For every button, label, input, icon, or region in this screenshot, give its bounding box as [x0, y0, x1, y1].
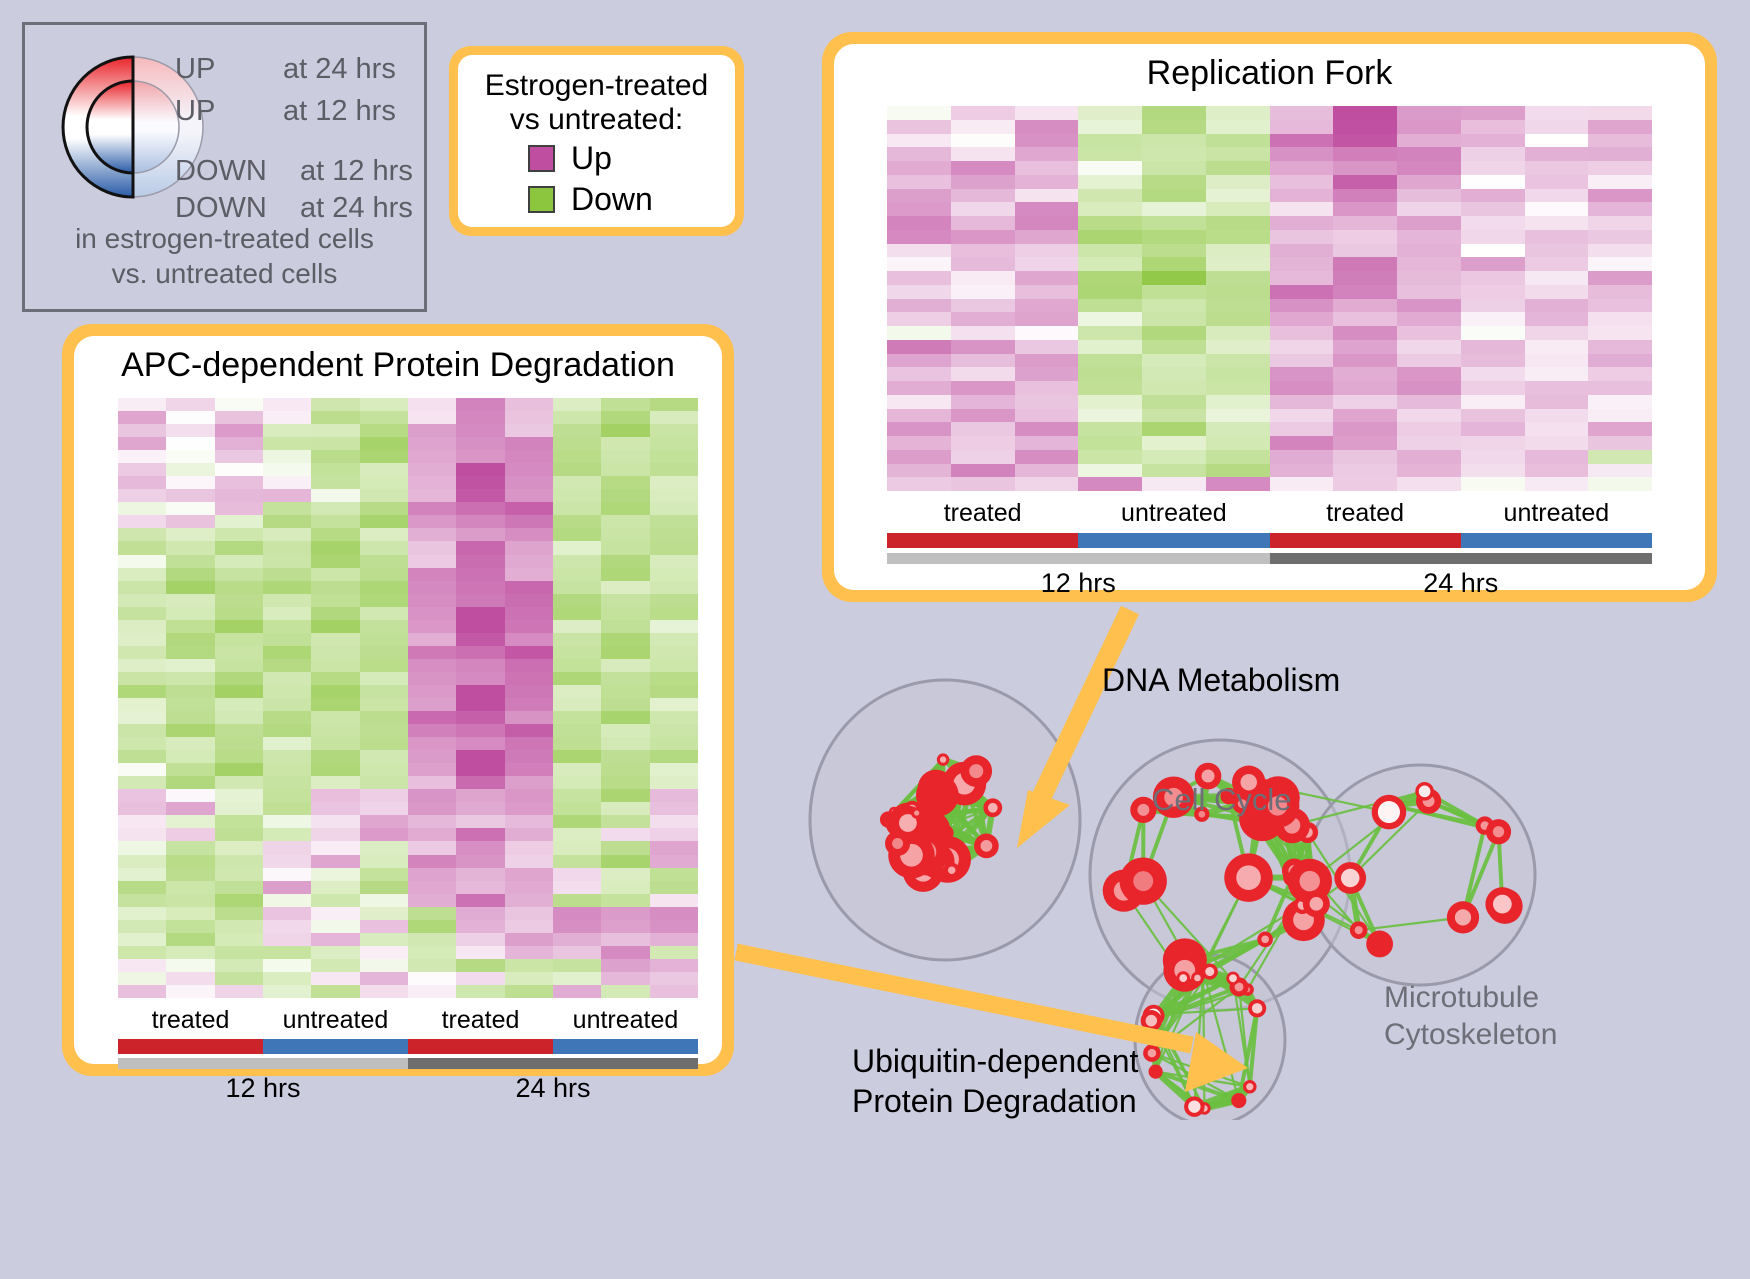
up-label: Up	[571, 140, 612, 177]
heatmap-cell	[553, 881, 601, 894]
heatmap-cell	[456, 411, 504, 424]
heatmap-cell	[118, 555, 166, 568]
heatmap-cell	[360, 933, 408, 946]
heatmap-cell	[1015, 312, 1079, 326]
heatmap-cell	[311, 646, 359, 659]
heatmap-cell	[456, 907, 504, 920]
network-node[interactable]	[1257, 932, 1273, 948]
heatmap-cell	[166, 528, 214, 541]
heatmap-cell	[1015, 175, 1079, 189]
heatmap-cell	[215, 437, 263, 450]
heatmap-cell	[215, 946, 263, 959]
heatmap-cell	[360, 568, 408, 581]
down-swatch-icon	[528, 186, 555, 213]
heatmap-cell	[1461, 477, 1525, 491]
condition-label: untreated	[263, 1006, 408, 1035]
heatmap-cell	[215, 398, 263, 411]
network-node[interactable]	[960, 755, 992, 787]
heatmap-cell	[408, 541, 456, 554]
heatmap-cell	[650, 828, 698, 841]
heatmap-cell	[215, 815, 263, 828]
heatmap-cell	[1461, 409, 1525, 423]
heatmap-cell	[1206, 244, 1270, 258]
heatmap-cell	[650, 607, 698, 620]
heatmap-cell	[650, 946, 698, 959]
heatmap-cell	[311, 450, 359, 463]
condition-labels-apc: treated untreated treated untreated	[118, 1006, 698, 1035]
heatmap-cell	[1397, 216, 1461, 230]
heatmap-cell	[456, 959, 504, 972]
heatmap-cell	[263, 568, 311, 581]
heatmap-cell	[215, 894, 263, 907]
heatmap-cell	[951, 230, 1015, 244]
heatmap-cell	[215, 633, 263, 646]
heatmap-cell	[215, 581, 263, 594]
heatmap-cell	[553, 737, 601, 750]
heatmap-cell	[1142, 395, 1206, 409]
heatmap-cell	[1525, 340, 1589, 354]
network-node[interactable]	[1231, 1093, 1246, 1108]
heatmap-cell	[1588, 161, 1652, 175]
heatmap-cell	[166, 424, 214, 437]
panel-apc-inner: APC-dependent Protein Degradation treate…	[74, 336, 722, 1064]
heatmap-cell	[1461, 367, 1525, 381]
heatmap-cell	[1015, 422, 1079, 436]
heatmap-cell	[456, 815, 504, 828]
heatmap-cell	[505, 894, 553, 907]
heatmap-cell	[1270, 257, 1334, 271]
heatmap-cell	[505, 907, 553, 920]
heatmap-cell	[408, 946, 456, 959]
heatmap-cell	[1142, 477, 1206, 491]
heatmap-cell	[263, 633, 311, 646]
heatmap-cell	[1015, 367, 1079, 381]
heatmap-cell	[166, 411, 214, 424]
heatmap-cell	[1142, 326, 1206, 340]
heatmap-cell	[951, 175, 1015, 189]
heatmap-cell	[553, 776, 601, 789]
heatmap-cell	[887, 202, 951, 216]
condition-labels-replication-fork: treated untreated treated untreated	[887, 499, 1652, 528]
heatmap-cell	[601, 685, 649, 698]
heatmap-cell	[215, 489, 263, 502]
heatmap-cell	[215, 841, 263, 854]
heatmap-cell	[118, 763, 166, 776]
heatmap-cell	[951, 106, 1015, 120]
network-node[interactable]	[1184, 1096, 1205, 1117]
heatmap-cell	[601, 750, 649, 763]
heatmap-cell	[1525, 271, 1589, 285]
heatmap-cell	[1142, 147, 1206, 161]
heatmap-cell	[1397, 312, 1461, 326]
heatmap-cell	[1206, 257, 1270, 271]
heatmap-cell	[311, 841, 359, 854]
heatmap-cell	[601, 515, 649, 528]
heatmap-cell	[1588, 367, 1652, 381]
heatmap-cell	[118, 502, 166, 515]
heatmap-cell	[311, 424, 359, 437]
heatmap-cell	[1461, 340, 1525, 354]
heatmap-cell	[505, 528, 553, 541]
heatmap-cell	[1397, 422, 1461, 436]
heatmap-cell	[456, 894, 504, 907]
heatmap-cell	[360, 815, 408, 828]
heatmap-cell	[311, 437, 359, 450]
heatmap-cell	[1588, 409, 1652, 423]
condition-label: untreated	[1461, 499, 1652, 528]
heatmap-cell	[1015, 244, 1079, 258]
cluster-label-microtubule-cytoskeleton: Microtubule Cytoskeleton	[1384, 980, 1557, 1053]
heatmap-cell	[311, 607, 359, 620]
heatmap-cell	[1333, 230, 1397, 244]
heatmap-cell	[1015, 202, 1079, 216]
heatmap-cell	[1270, 422, 1334, 436]
heatmap-cell	[1078, 450, 1142, 464]
heatmap-cell	[118, 972, 166, 985]
heatmap-cell	[360, 894, 408, 907]
heatmap-cell	[118, 724, 166, 737]
heatmap-cell	[408, 437, 456, 450]
network-node[interactable]	[1176, 971, 1190, 985]
heatmap-cell	[1461, 134, 1525, 148]
heatmap-cell	[311, 489, 359, 502]
heatmap-cell	[1078, 271, 1142, 285]
heatmap-cell	[1397, 381, 1461, 395]
heatmap-cell	[1015, 147, 1079, 161]
heatmap-cell	[360, 972, 408, 985]
heatmap-cell	[1333, 147, 1397, 161]
heatmap-cell	[1461, 244, 1525, 258]
heatmap-cell	[263, 685, 311, 698]
heatmap-cell	[650, 672, 698, 685]
heatmap-cell	[1206, 120, 1270, 134]
heatmap-cell	[1525, 450, 1589, 464]
heatmap-cell	[1078, 230, 1142, 244]
heatmap-cell	[1588, 189, 1652, 203]
heatmap-cell	[1142, 189, 1206, 203]
heatmap-cell	[1461, 161, 1525, 175]
heatmap-cell	[553, 398, 601, 411]
heatmap-cell	[1270, 436, 1334, 450]
heatmap-cell	[360, 789, 408, 802]
heatmap-cell	[887, 354, 951, 368]
heatmap-cell	[1333, 477, 1397, 491]
heatmap-cell	[1270, 106, 1334, 120]
heatmap-cell	[360, 476, 408, 489]
heatmap-cell	[215, 959, 263, 972]
heatmap-cell	[360, 633, 408, 646]
network-node[interactable]	[974, 834, 999, 859]
network-node[interactable]	[1372, 795, 1407, 830]
heatmap-cell	[215, 802, 263, 815]
heatmap-cell	[408, 828, 456, 841]
heatmap-cell	[1078, 326, 1142, 340]
heatmap-cell	[553, 568, 601, 581]
heatmap-cell	[263, 463, 311, 476]
heatmap-cell	[951, 202, 1015, 216]
heatmap-cell	[1525, 106, 1589, 120]
heatmap-cell	[601, 528, 649, 541]
heatmap-cell	[166, 581, 214, 594]
heatmap-cell	[215, 411, 263, 424]
heatmap-cell	[951, 477, 1015, 491]
heatmap-cell	[951, 354, 1015, 368]
page-title-apc: APC-dependent Protein Degradation	[74, 346, 722, 385]
network-node[interactable]	[1143, 1044, 1160, 1061]
network-node[interactable]	[1202, 964, 1218, 980]
network-node[interactable]	[911, 807, 922, 818]
heatmap-cell	[1206, 147, 1270, 161]
heatmap-cell	[215, 620, 263, 633]
heatmap-cell	[360, 685, 408, 698]
condition-label: treated	[408, 1006, 553, 1035]
heatmap-cell	[601, 489, 649, 502]
heatmap-cell	[166, 620, 214, 633]
heatmap-cell	[505, 789, 553, 802]
heatmap-cell	[1461, 147, 1525, 161]
heatmap-cell	[650, 698, 698, 711]
network-node[interactable]	[1163, 949, 1206, 992]
heatmap-cell	[1461, 436, 1525, 450]
heatmap-cell	[650, 450, 698, 463]
time-label: 24 hrs	[1270, 568, 1653, 599]
heatmap-cell	[951, 381, 1015, 395]
heatmap-cell	[215, 672, 263, 685]
heatmap-cell	[360, 502, 408, 515]
heatmap-cell	[360, 620, 408, 633]
heatmap-cell	[1270, 120, 1334, 134]
time-label: 24 hrs	[408, 1073, 698, 1104]
heatmap-cell	[215, 450, 263, 463]
heatmap-cell	[1525, 312, 1589, 326]
heatmap-cell	[1525, 134, 1589, 148]
heatmap-cell	[1206, 354, 1270, 368]
heatmap-cell	[887, 395, 951, 409]
heatmap-cell	[360, 672, 408, 685]
heatmap-cell	[1270, 147, 1334, 161]
heatmap-cell	[1078, 464, 1142, 478]
heatmap-cell	[1015, 257, 1079, 271]
heatmap-cell	[311, 581, 359, 594]
heatmap-cell	[601, 763, 649, 776]
heatmap-cell	[263, 515, 311, 528]
heatmap-cell	[408, 815, 456, 828]
condition-label: treated	[887, 499, 1078, 528]
heatmap-cell	[1142, 120, 1206, 134]
network-node[interactable]	[1141, 1010, 1162, 1031]
network-node[interactable]	[1243, 1080, 1257, 1094]
heatmap-cell	[408, 515, 456, 528]
heatmap-cell	[1206, 381, 1270, 395]
network-node[interactable]	[1334, 862, 1366, 894]
heatmap-cell	[1015, 230, 1079, 244]
heatmap-cell	[166, 828, 214, 841]
heatmap-cell	[887, 464, 951, 478]
heatmap-cell	[1588, 216, 1652, 230]
time-label: 12 hrs	[887, 568, 1270, 599]
heatmap-cell	[553, 985, 601, 998]
heatmap-cell	[887, 147, 951, 161]
heatmap-cell	[408, 633, 456, 646]
heatmap-cell	[1333, 436, 1397, 450]
bar-24hrs	[408, 1058, 698, 1069]
heatmap-cell	[650, 411, 698, 424]
network-node[interactable]	[1224, 853, 1273, 902]
network-node[interactable]	[983, 798, 1002, 817]
heatmap-cell	[408, 972, 456, 985]
heatmap-cell	[1588, 299, 1652, 313]
heatmap-cell	[1015, 216, 1079, 230]
heatmap-cell	[456, 541, 504, 554]
heatmap-cell	[1142, 464, 1206, 478]
network-node[interactable]	[944, 863, 959, 878]
heatmap-cell	[1461, 312, 1525, 326]
heatmap-cell	[1270, 271, 1334, 285]
heatmap-cell	[887, 340, 951, 354]
heatmap-cell	[118, 646, 166, 659]
network-node[interactable]	[1120, 857, 1167, 904]
heatmap-cell	[360, 776, 408, 789]
heatmap-cell	[456, 568, 504, 581]
heatmap-cell	[1525, 436, 1589, 450]
network-node[interactable]	[937, 753, 950, 766]
heatmap-cell	[951, 189, 1015, 203]
network-node[interactable]	[1226, 972, 1239, 985]
bar-treated	[118, 1039, 263, 1054]
heatmap-cell	[118, 476, 166, 489]
heatmap-cell	[1015, 450, 1079, 464]
heatmap-cell	[263, 476, 311, 489]
heatmap-cell	[408, 933, 456, 946]
heatmap-cell	[553, 489, 601, 502]
heatmap-cell	[505, 581, 553, 594]
heatmap-cell	[360, 581, 408, 594]
network-node[interactable]	[1486, 819, 1511, 844]
heatmap-cell	[1142, 409, 1206, 423]
heatmap-cell	[601, 933, 649, 946]
heatmap-cell	[601, 437, 649, 450]
heatmap-cell	[456, 946, 504, 959]
heatmap-cell	[408, 672, 456, 685]
heatmap-cell	[118, 789, 166, 802]
heatmap-cell	[505, 568, 553, 581]
heatmap-cell	[1397, 285, 1461, 299]
heatmap-cell	[118, 776, 166, 789]
heatmap-cell	[166, 594, 214, 607]
heatmap-cell	[456, 763, 504, 776]
heatmap-cell	[166, 633, 214, 646]
network-node[interactable]	[1191, 972, 1204, 985]
heatmap-cell	[505, 724, 553, 737]
updown-legend-title: Estrogen-treated vs untreated:	[470, 69, 723, 136]
heatmap-cell	[1397, 271, 1461, 285]
heatmap-apc	[118, 398, 698, 998]
heatmap-cell	[1333, 312, 1397, 326]
heatmap-cell	[553, 868, 601, 881]
heatmap-cell	[1333, 367, 1397, 381]
heatmap-cell	[408, 450, 456, 463]
heatmap-cell	[1525, 299, 1589, 313]
heatmap-cell	[215, 685, 263, 698]
heatmap-cell	[1078, 422, 1142, 436]
heatmap-cell	[1588, 230, 1652, 244]
heatmap-cell	[1397, 299, 1461, 313]
heatmap-cell	[263, 907, 311, 920]
bar-untreated	[1461, 533, 1652, 548]
heatmap-cell	[1078, 436, 1142, 450]
network-node[interactable]	[1149, 1065, 1163, 1079]
heatmap-cell	[601, 476, 649, 489]
heatmap-cell	[263, 528, 311, 541]
heatmap-cell	[1397, 326, 1461, 340]
heatmap-cell	[1397, 450, 1461, 464]
heatmap-cell	[1206, 161, 1270, 175]
heatmap-cell	[1206, 450, 1270, 464]
heatmap-cell	[166, 568, 214, 581]
heatmap-cell	[505, 594, 553, 607]
heatmap-cell	[553, 750, 601, 763]
heatmap-cell	[118, 907, 166, 920]
heatmap-cell	[408, 724, 456, 737]
network-node[interactable]	[1366, 931, 1393, 958]
heatmap-cell	[601, 959, 649, 972]
heatmap-cell	[505, 855, 553, 868]
heatmap-cell	[1397, 409, 1461, 423]
heatmap-cell	[650, 620, 698, 633]
heatmap-cell	[887, 120, 951, 134]
heatmap-cell	[408, 920, 456, 933]
heatmap-cell	[1078, 312, 1142, 326]
heatmap-cell	[408, 581, 456, 594]
heatmap-cell	[1078, 299, 1142, 313]
heatmap-cell	[311, 868, 359, 881]
network-node[interactable]	[1248, 999, 1266, 1017]
heatmap-cell	[360, 881, 408, 894]
heatmap-cell	[215, 776, 263, 789]
heatmap-cell	[263, 411, 311, 424]
heatmap-cell	[650, 541, 698, 554]
heatmap-cell	[1461, 450, 1525, 464]
heatmap-cell	[456, 711, 504, 724]
legend-time-0: at 24 hrs	[283, 53, 396, 86]
network-node[interactable]	[1485, 887, 1519, 921]
bar-treated	[408, 1039, 553, 1054]
heatmap-cell	[650, 476, 698, 489]
updown-title-line2: vs untreated:	[470, 103, 723, 137]
heatmap-cell	[887, 409, 951, 423]
heatmap-cell	[215, 907, 263, 920]
network-node[interactable]	[1447, 901, 1479, 933]
network-node[interactable]	[923, 780, 952, 809]
heatmap-cell	[311, 476, 359, 489]
heatmap-cell	[408, 841, 456, 854]
network-node[interactable]	[1415, 782, 1434, 801]
heatmap-cell	[1078, 354, 1142, 368]
heatmap-cell	[311, 633, 359, 646]
time-labels-replication-fork: 12 hrs 24 hrs	[887, 568, 1652, 599]
network-node[interactable]	[1350, 921, 1368, 939]
heatmap-cell	[263, 698, 311, 711]
heatmap-cell	[263, 450, 311, 463]
heatmap-cell	[601, 424, 649, 437]
down-label: Down	[571, 181, 653, 218]
heatmap-cell	[408, 502, 456, 515]
heatmap-cell	[650, 581, 698, 594]
heatmap-cell	[601, 411, 649, 424]
network-node[interactable]	[1303, 890, 1330, 917]
heatmap-cell	[505, 985, 553, 998]
heatmap-cell	[553, 594, 601, 607]
